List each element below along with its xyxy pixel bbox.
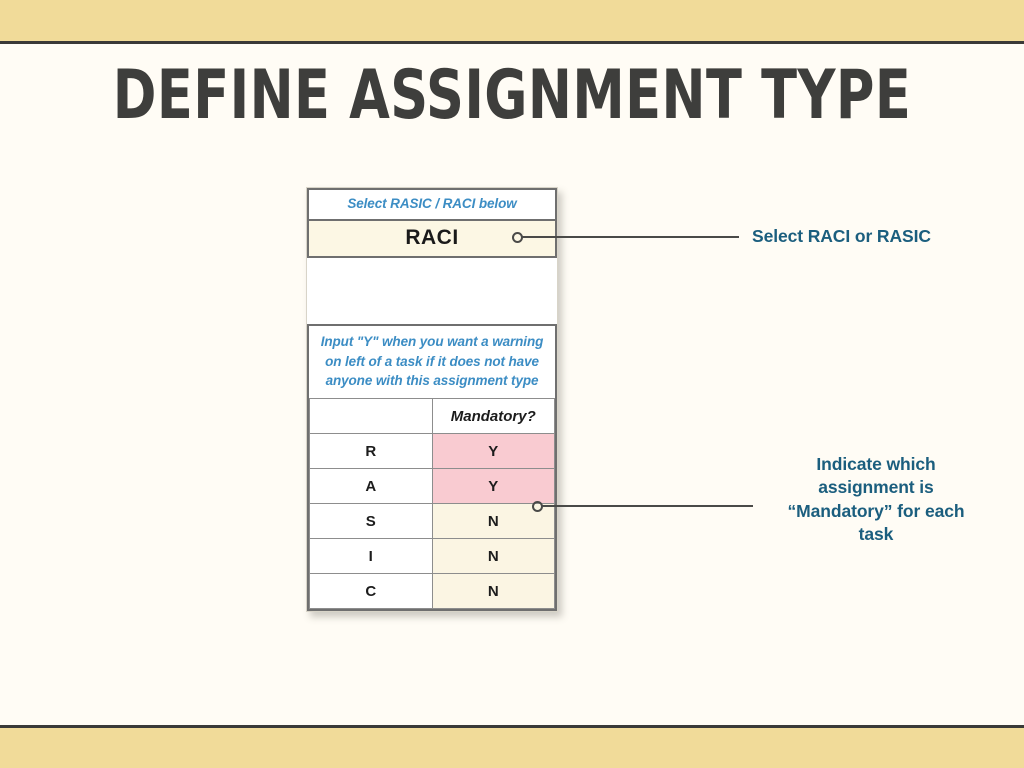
table-row: R Y [310, 434, 555, 469]
bottom-decorative-band [0, 725, 1024, 768]
header-cell-mandatory: Mandatory? [432, 399, 555, 434]
spreadsheet-panel: Select RASIC / RACI below RACI Input "Y"… [306, 187, 558, 612]
row-mandatory-r[interactable]: Y [432, 434, 555, 469]
callout-leader-line-select-type [521, 236, 739, 238]
callout-anchor-dot-mandatory [532, 501, 543, 512]
selector-header-label: Select RASIC / RACI below [309, 190, 555, 219]
table-row: S N [310, 504, 555, 539]
table-header-row: Mandatory? [310, 399, 555, 434]
callout-mandatory-line-4: task [760, 523, 992, 546]
row-code-i: I [310, 539, 433, 574]
callout-anchor-dot-select-type [512, 232, 523, 243]
mandatory-table: Mandatory? R Y A Y S N I N C N [309, 398, 555, 609]
page-title: DEFINE ASSIGNMENT TYPE [72, 62, 953, 130]
row-mandatory-i[interactable]: N [432, 539, 555, 574]
callout-mandatory-line-3: “Mandatory” for each [760, 500, 992, 523]
row-code-a: A [310, 469, 433, 504]
mandatory-instruction-text: Input "Y" when you want a warning on lef… [309, 326, 555, 399]
row-code-s: S [310, 504, 433, 539]
table-row: C N [310, 574, 555, 609]
table-row: I N [310, 539, 555, 574]
row-code-r: R [310, 434, 433, 469]
callout-mandatory-line-1: Indicate which [760, 453, 992, 476]
row-code-c: C [310, 574, 433, 609]
callout-leader-line-mandatory [541, 505, 753, 507]
table-row: A Y [310, 469, 555, 504]
callout-select-type: Select RACI or RASIC [752, 225, 1002, 248]
header-cell-blank [310, 399, 433, 434]
assignment-type-selector-block: Select RASIC / RACI below RACI [307, 188, 557, 258]
sheet-blank-gap [307, 258, 557, 324]
top-decorative-band [0, 0, 1024, 44]
callout-mandatory-line-2: assignment is [760, 476, 992, 499]
row-mandatory-c[interactable]: N [432, 574, 555, 609]
row-mandatory-a[interactable]: Y [432, 469, 555, 504]
callout-mandatory: Indicate which assignment is “Mandatory”… [760, 453, 992, 546]
mandatory-settings-block: Input "Y" when you want a warning on lef… [307, 324, 557, 612]
